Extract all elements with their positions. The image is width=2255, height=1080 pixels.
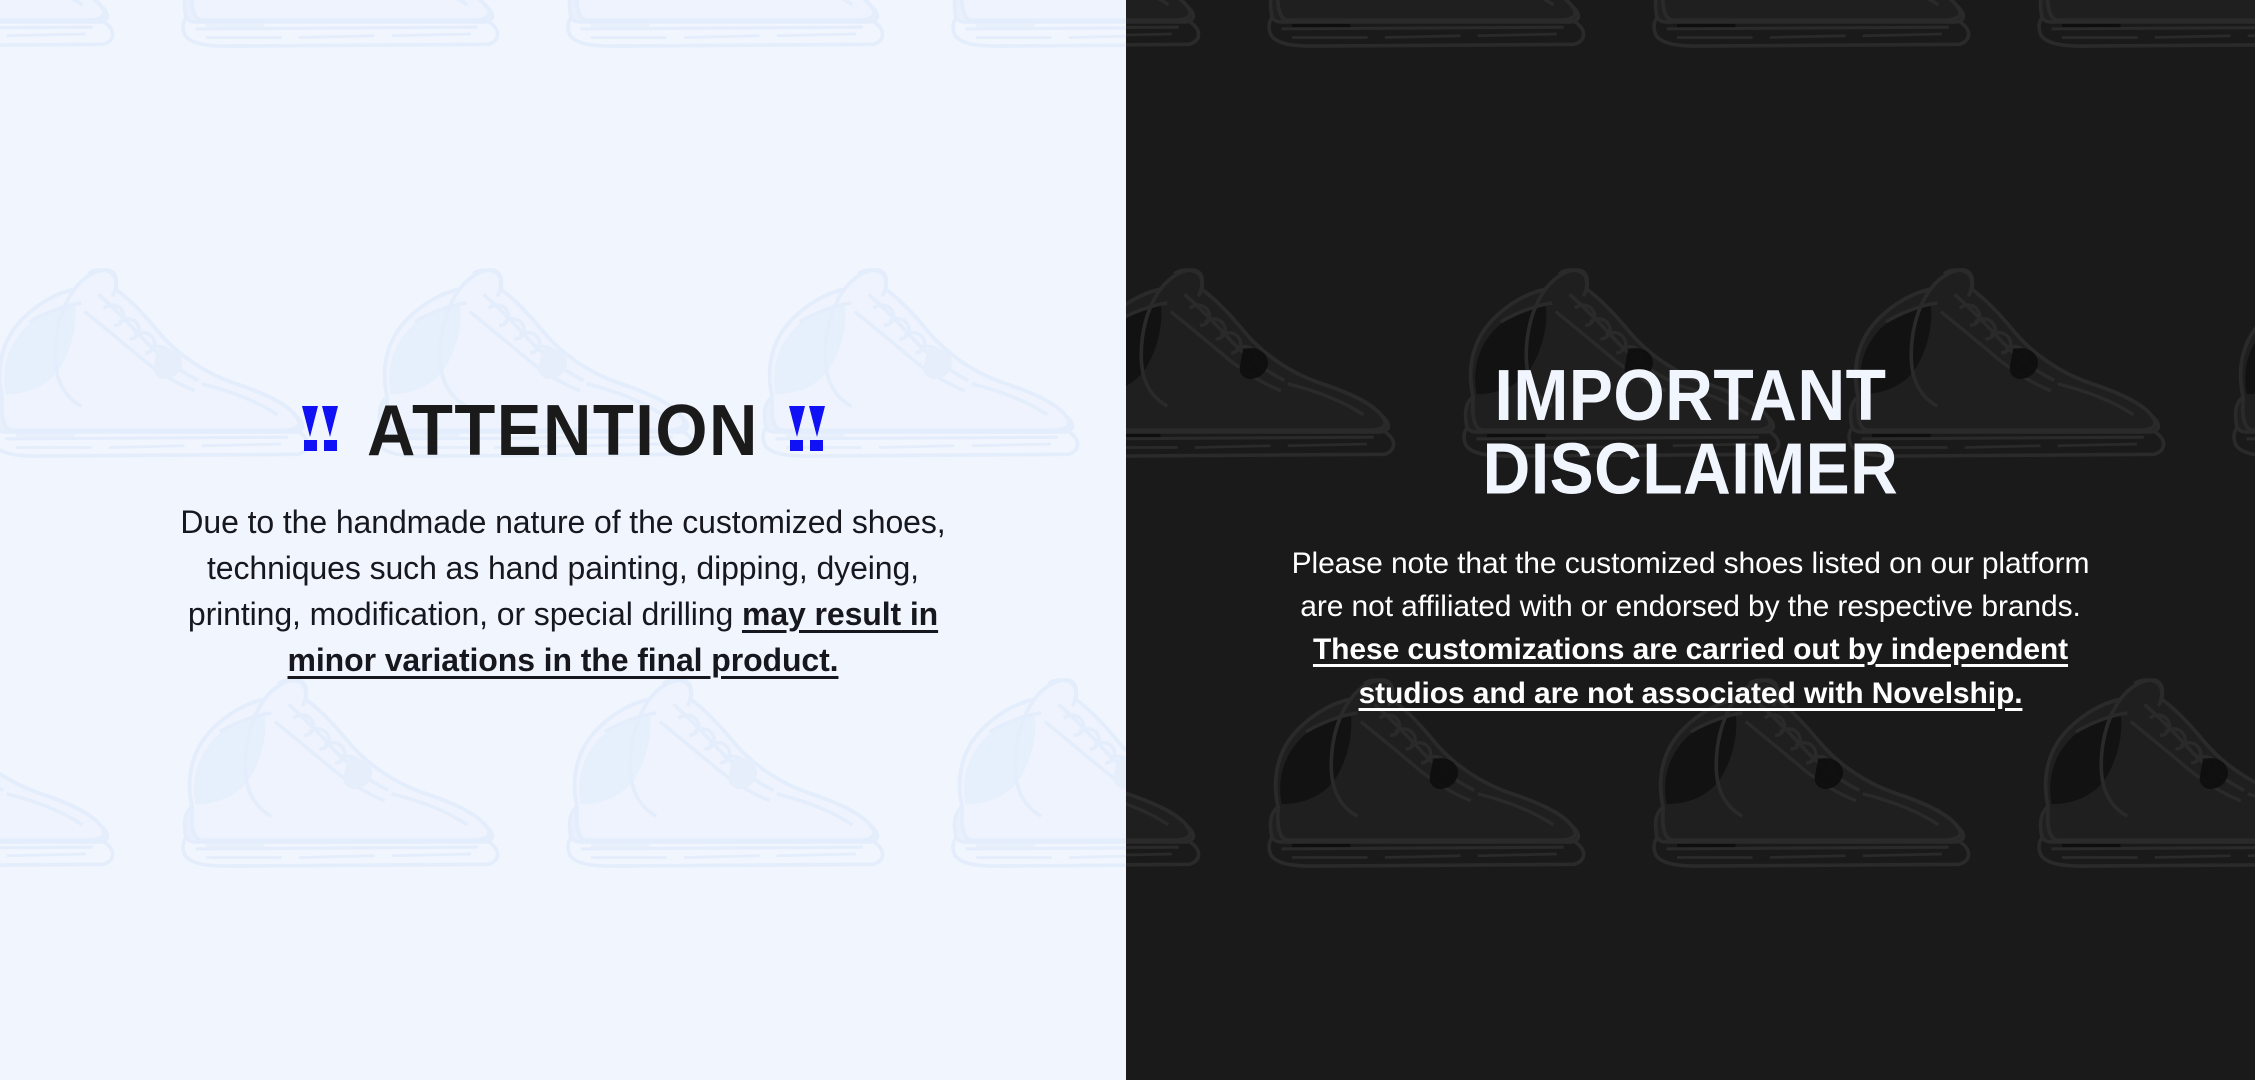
attention-panel: ATTENTION Due to the handmade nature of …: [0, 0, 1126, 1080]
attention-heading-label: ATTENTION: [367, 394, 759, 466]
disclaimer-heading: IMPORTANT DISCLAIMER: [1483, 359, 1899, 507]
attention-content: ATTENTION Due to the handmade nature of …: [0, 397, 1126, 683]
disclaimer-content: IMPORTANT DISCLAIMER Please note that th…: [1126, 365, 2255, 714]
disclaimer-heading-line1: IMPORTANT: [1483, 359, 1899, 433]
disclaimer-heading-line2: DISCLAIMER: [1483, 433, 1899, 507]
attention-heading: ATTENTION: [302, 397, 824, 464]
disclaimer-body-normal: Please note that the customized shoes li…: [1292, 547, 2090, 623]
disclaimer-panel: IMPORTANT DISCLAIMER Please note that th…: [1126, 0, 2255, 1080]
double-exclamation-icon-left: [302, 406, 337, 451]
disclaimer-body-emphasis: These customizations are carried out by …: [1313, 633, 2068, 709]
disclaimer-banner: ATTENTION Due to the handmade nature of …: [0, 0, 2255, 1080]
attention-body-text: Due to the handmade nature of the custom…: [163, 499, 963, 683]
disclaimer-body-text: Please note that the customized shoes li…: [1281, 542, 2101, 715]
double-exclamation-icon-right: [789, 406, 824, 451]
